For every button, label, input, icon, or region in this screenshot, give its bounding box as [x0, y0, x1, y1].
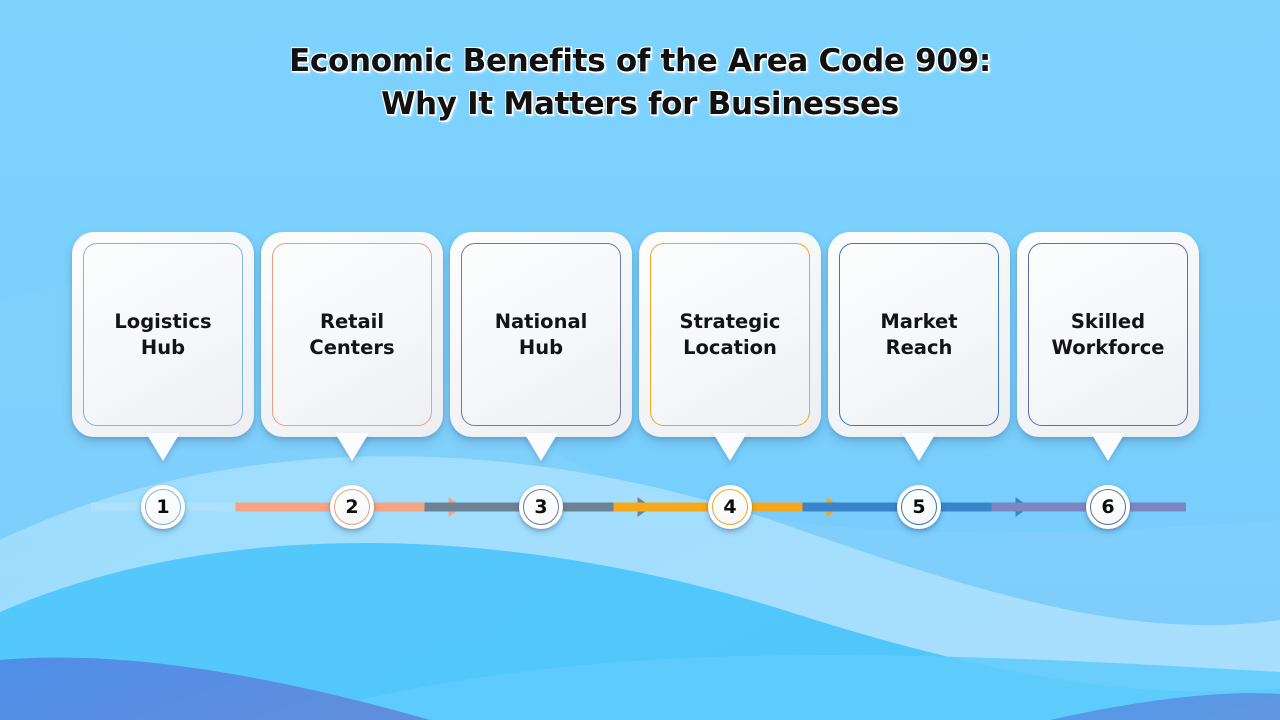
step-card-panel: Strategic Location: [650, 243, 810, 426]
timeline-node-6[interactable]: 6: [1086, 485, 1130, 529]
step-card-frame: Strategic Location: [639, 232, 821, 437]
step-card-pointer: [524, 433, 558, 461]
step-card-pointer: [335, 433, 369, 461]
step-card-label: Strategic Location: [676, 309, 785, 361]
timeline-node-4[interactable]: 4: [708, 485, 752, 529]
timeline-node-number: 6: [1101, 498, 1114, 517]
step-card-frame: National Hub: [450, 232, 632, 437]
timeline-node-number: 1: [156, 498, 169, 517]
step-card-3[interactable]: National Hub: [450, 232, 632, 472]
timeline-node-2[interactable]: 2: [330, 485, 374, 529]
step-card-panel: Skilled Workforce: [1028, 243, 1188, 426]
step-card-4[interactable]: Strategic Location: [639, 232, 821, 472]
timeline-node-number: 4: [723, 498, 736, 517]
step-card-label: Market Reach: [876, 309, 961, 361]
page-title-line-1: Economic Benefits of the Area Code 909:: [0, 40, 1280, 83]
step-card-frame: Retail Centers: [261, 232, 443, 437]
step-card-pointer: [902, 433, 936, 461]
timeline-node-1[interactable]: 1: [141, 485, 185, 529]
timeline-node-number: 5: [912, 498, 925, 517]
steps-card-row: Logistics HubRetail CentersNational HubS…: [72, 232, 1200, 472]
page-title-line-2: Why It Matters for Businesses: [0, 83, 1280, 126]
step-card-label: Logistics Hub: [110, 309, 215, 361]
step-card-frame: Skilled Workforce: [1017, 232, 1199, 437]
timeline-node-3[interactable]: 3: [519, 485, 563, 529]
step-card-1[interactable]: Logistics Hub: [72, 232, 254, 472]
step-card-2[interactable]: Retail Centers: [261, 232, 443, 472]
step-card-panel: National Hub: [461, 243, 621, 426]
step-card-panel: Market Reach: [839, 243, 999, 426]
step-card-frame: Market Reach: [828, 232, 1010, 437]
step-card-6[interactable]: Skilled Workforce: [1017, 232, 1199, 472]
step-card-pointer: [1091, 433, 1125, 461]
timeline-node-5[interactable]: 5: [897, 485, 941, 529]
step-card-panel: Retail Centers: [272, 243, 432, 426]
timeline-node-number: 3: [534, 498, 547, 517]
step-card-5[interactable]: Market Reach: [828, 232, 1010, 472]
timeline-node-number: 2: [345, 498, 358, 517]
process-timeline: 123456: [0, 476, 1280, 538]
step-card-label: Skilled Workforce: [1047, 309, 1168, 361]
step-card-pointer: [146, 433, 180, 461]
step-card-label: National Hub: [491, 309, 592, 361]
page-title: Economic Benefits of the Area Code 909: …: [0, 40, 1280, 126]
step-card-frame: Logistics Hub: [72, 232, 254, 437]
step-card-panel: Logistics Hub: [83, 243, 243, 426]
step-card-pointer: [713, 433, 747, 461]
step-card-label: Retail Centers: [305, 309, 398, 361]
